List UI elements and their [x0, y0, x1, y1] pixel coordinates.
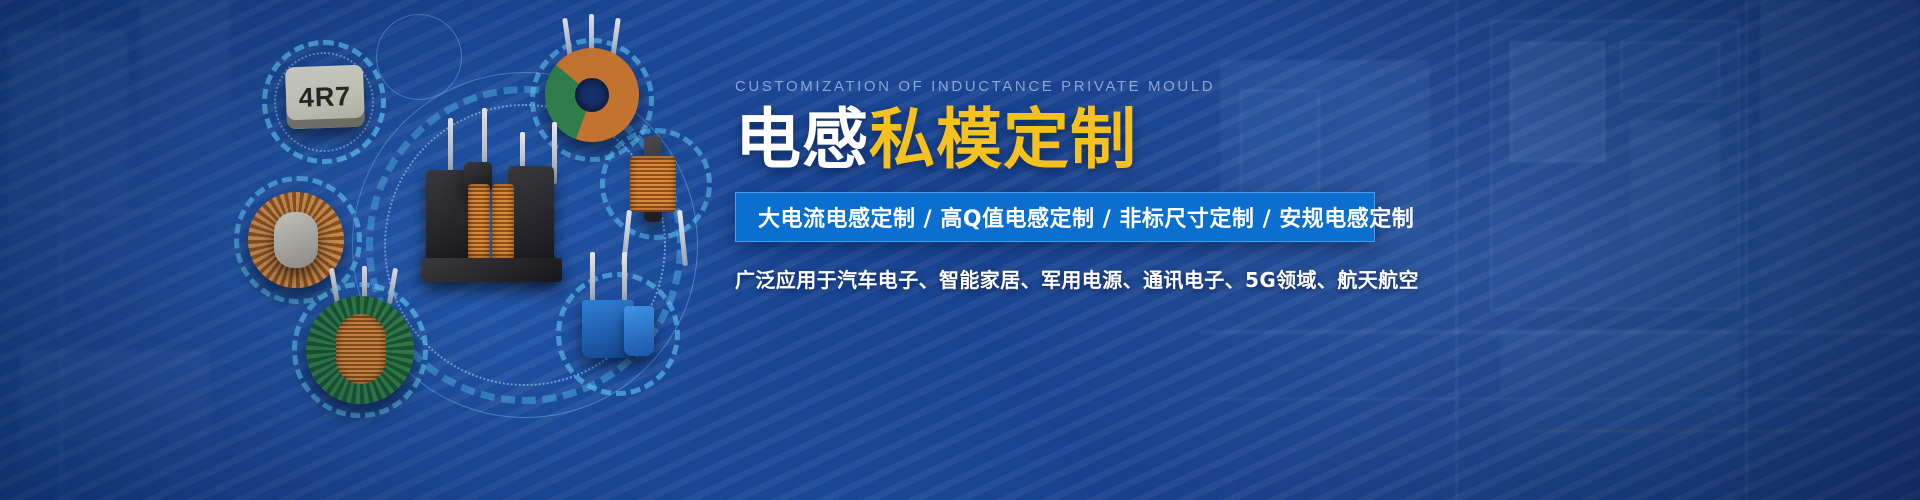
product-common-mode-choke-hero — [420, 110, 590, 270]
banner-headline: 电感私模定制 — [735, 105, 1375, 174]
smd-inductor-label: 4R7 — [285, 65, 365, 130]
banner-text-block: CUSTOMIZATION OF INDUCTANCE PRIVATE MOUL… — [735, 78, 1375, 293]
headline-part-gold: 私模定制 — [869, 101, 1137, 178]
headline-part-white: 电感 — [735, 101, 869, 178]
product-smd-power-inductor: 4R7 — [286, 66, 364, 128]
promo-banner: 4R7 — [0, 0, 1920, 500]
feature-list-bar: 大电流电感定制 / 高Q值电感定制 / 非标尺寸定制 / 安规电感定制 — [735, 192, 1375, 242]
product-toroidal-inductor-bottom — [306, 296, 414, 404]
feature-list-text: 大电流电感定制 / 高Q值电感定制 / 非标尺寸定制 / 安规电感定制 — [758, 201, 1414, 233]
banner-eyebrow-english: CUSTOMIZATION OF INDUCTANCE PRIVATE MOUL… — [735, 78, 1375, 95]
banner-description: 广泛应用于汽车电子、智能家居、军用电源、通讯电子、5G领域、航天航空 — [735, 264, 1375, 293]
